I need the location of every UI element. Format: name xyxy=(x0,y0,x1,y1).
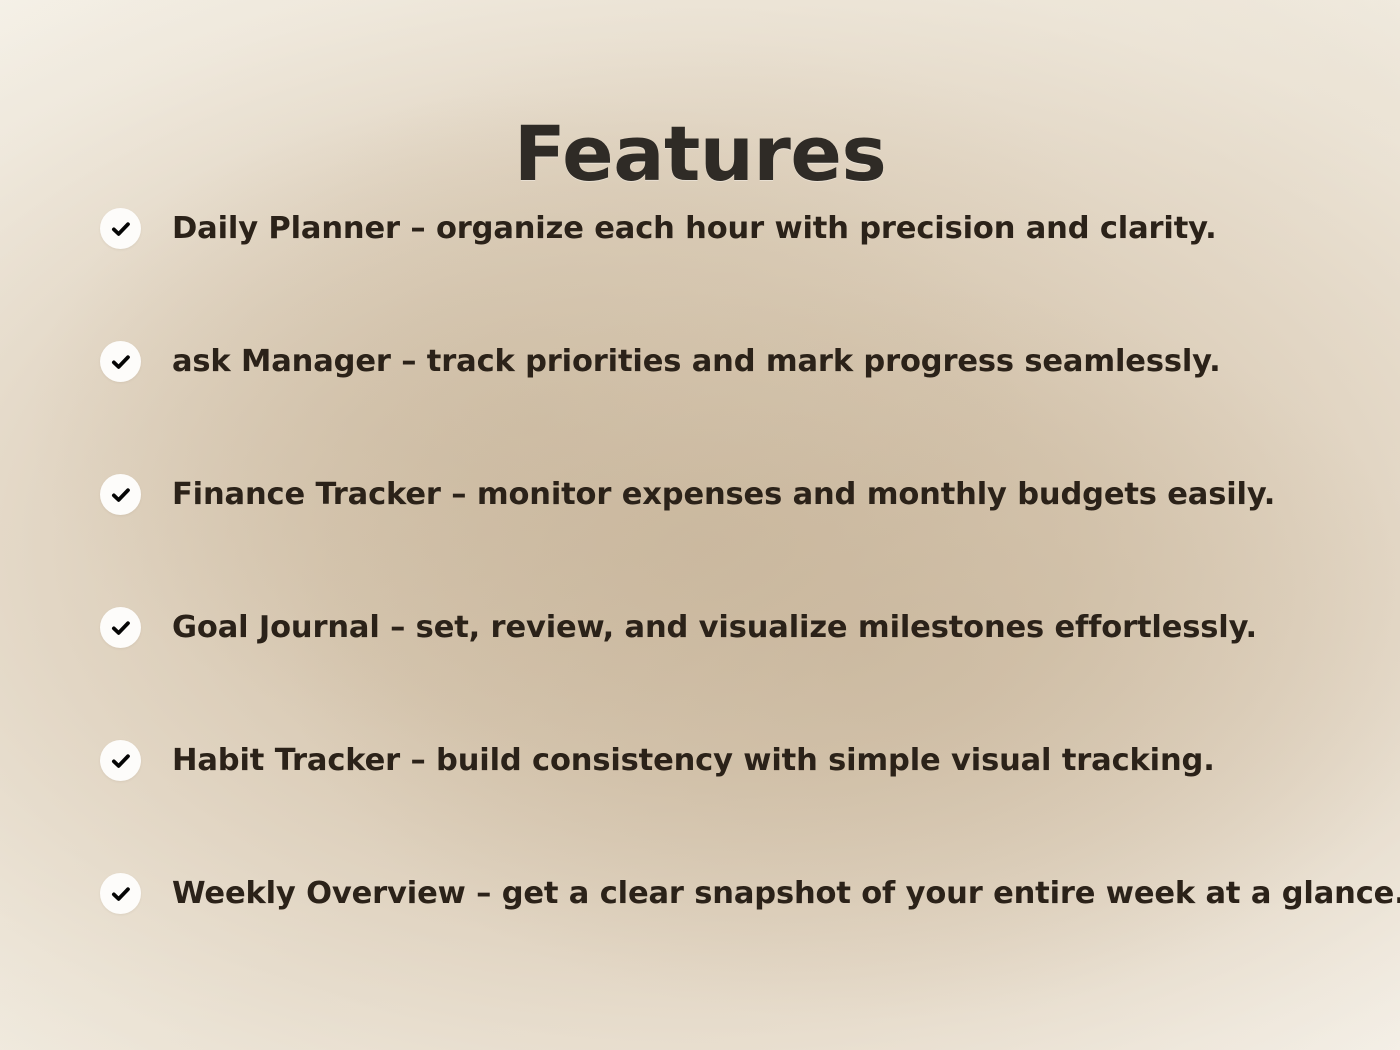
feature-label: ask Manager – track priorities and mark … xyxy=(172,340,1221,384)
page-title: Features xyxy=(0,109,1400,198)
check-icon xyxy=(100,208,141,249)
list-item: ask Manager – track priorities and mark … xyxy=(100,340,1360,388)
feature-label: Weekly Overview – get a clear snapshot o… xyxy=(172,872,1400,916)
feature-label: Finance Tracker – monitor expenses and m… xyxy=(172,473,1275,517)
features-slide: Features Daily Planner – organize each h… xyxy=(0,0,1400,1050)
feature-label: Daily Planner – organize each hour with … xyxy=(172,207,1217,251)
check-icon xyxy=(100,607,141,648)
check-icon xyxy=(100,873,141,914)
check-icon xyxy=(100,341,141,382)
check-icon xyxy=(100,740,141,781)
list-item: Weekly Overview – get a clear snapshot o… xyxy=(100,872,1360,920)
slide-content: Features Daily Planner – organize each h… xyxy=(0,0,1400,1050)
feature-label: Habit Tracker – build consistency with s… xyxy=(172,739,1215,783)
list-item: Goal Journal – set, review, and visualiz… xyxy=(100,606,1360,654)
list-item: Habit Tracker – build consistency with s… xyxy=(100,739,1360,787)
feature-list: Daily Planner – organize each hour with … xyxy=(100,207,1360,920)
list-item: Finance Tracker – monitor expenses and m… xyxy=(100,473,1360,521)
list-item: Daily Planner – organize each hour with … xyxy=(100,207,1360,255)
check-icon xyxy=(100,474,141,515)
feature-label: Goal Journal – set, review, and visualiz… xyxy=(172,606,1257,650)
